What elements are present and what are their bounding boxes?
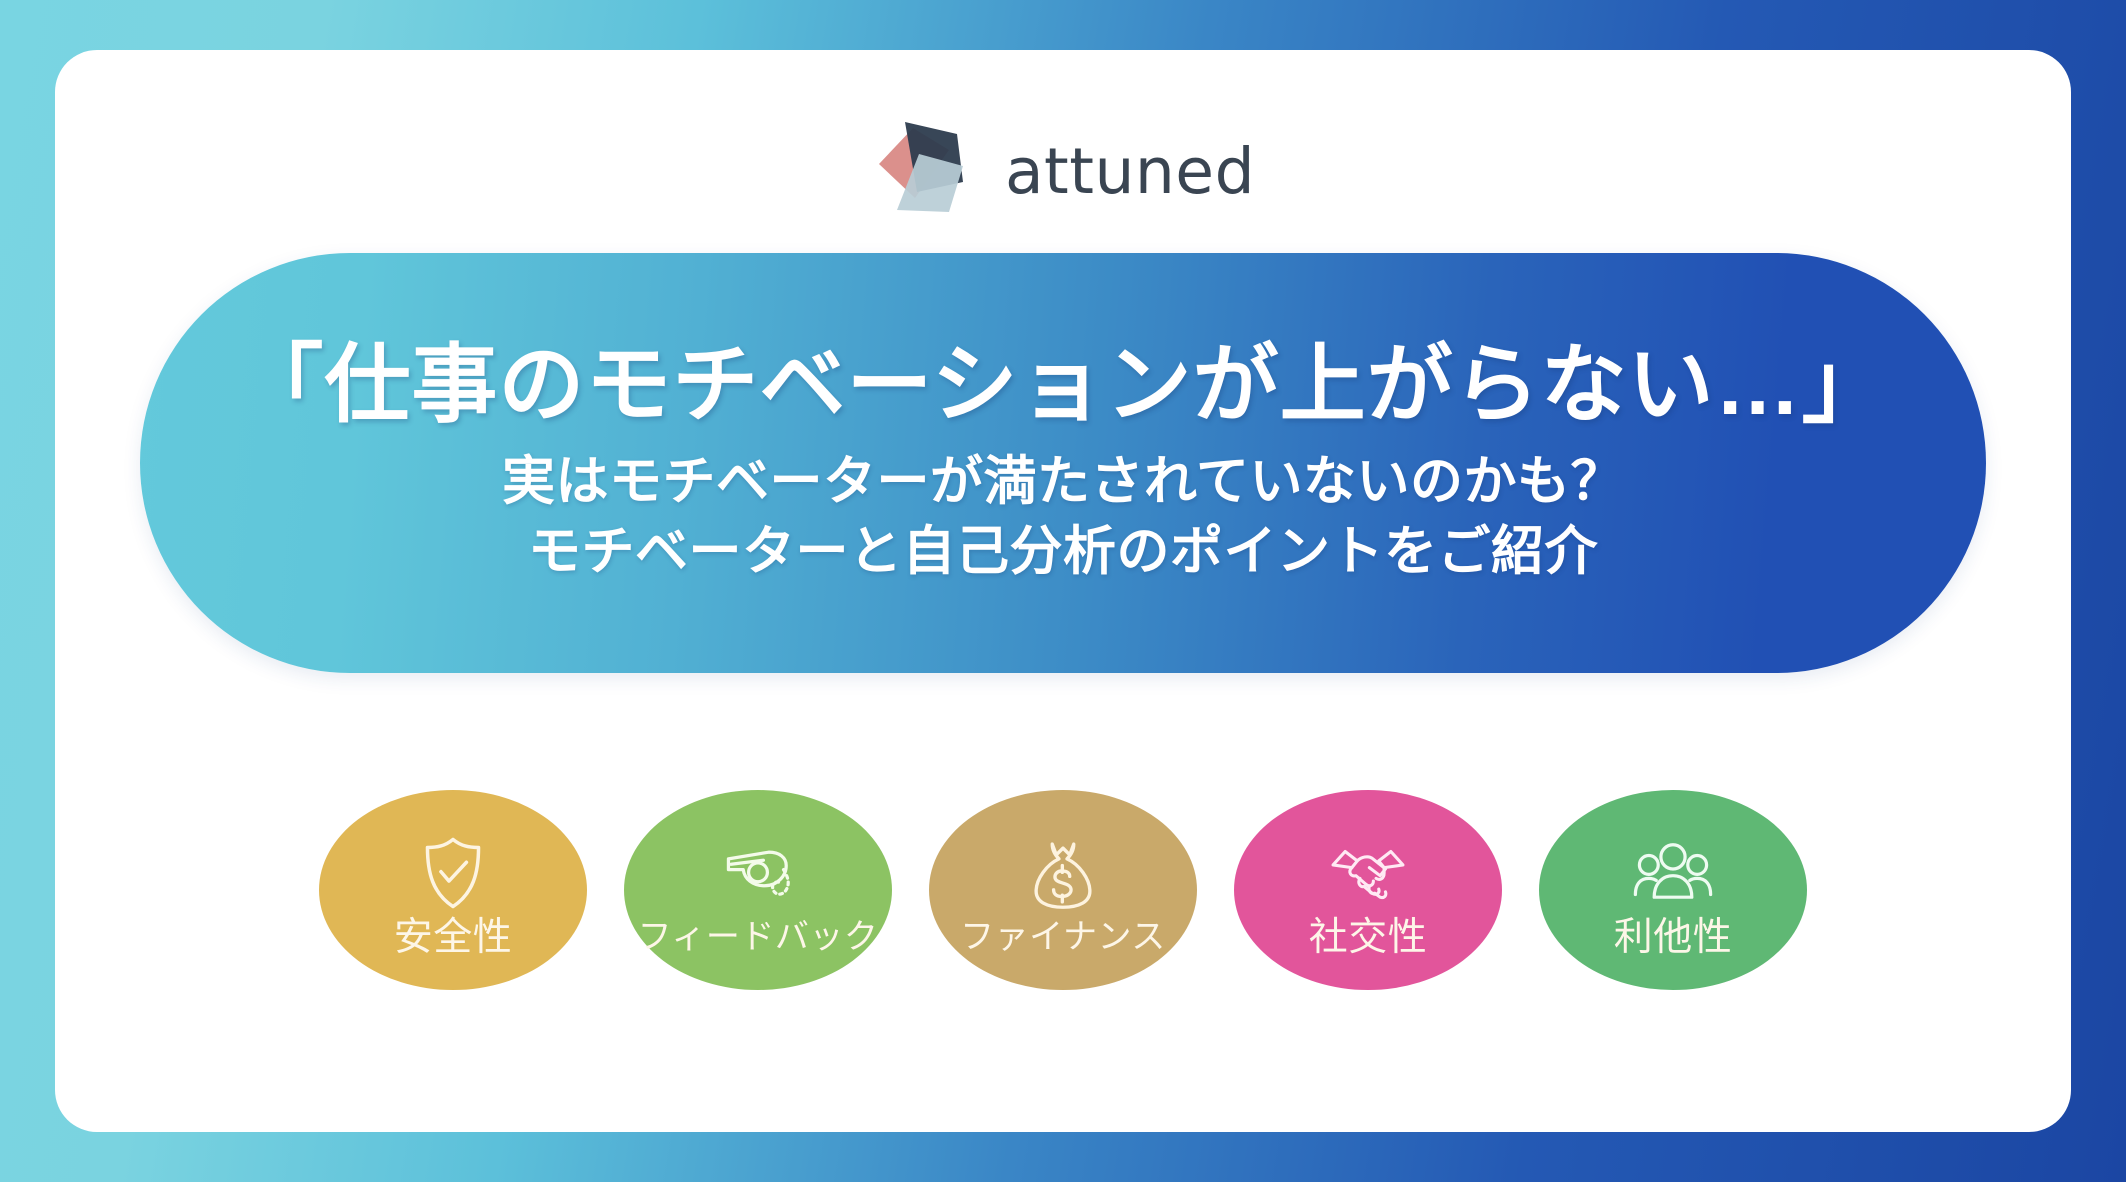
motivator-pill-list: 安全性 フィードバック (55, 790, 2071, 990)
brand-logo: attuned (55, 108, 2071, 226)
motivator-label: 利他性 (1614, 918, 1733, 957)
motivator-pill-social: 社交性 (1234, 790, 1502, 990)
attuned-diamond-logo-icon (871, 108, 989, 226)
handshake-icon (1320, 830, 1416, 916)
motivator-pill-altruism: 利他性 (1539, 790, 1807, 990)
headline-banner: 「仕事のモチベーションが上がらない…」 実はモチベーターが満たされていないのかも… (140, 253, 1986, 673)
whistle-icon (710, 832, 806, 918)
motivator-label: ファイナンス (960, 920, 1166, 954)
attuned-wordmark: attuned (1005, 140, 1255, 203)
promo-graphic-page: attuned 「仕事のモチベーションが上がらない…」 実はモチベーターが満たさ… (0, 0, 2126, 1182)
people-group-icon (1625, 830, 1721, 916)
motivator-label: 安全性 (394, 918, 513, 957)
motivator-pill-safety: 安全性 (319, 790, 587, 990)
motivator-label: フィードバック (638, 920, 879, 954)
motivator-label: 社交性 (1309, 918, 1428, 957)
shield-check-icon (405, 830, 501, 916)
banner-title: 「仕事のモチベーションが上がらない…」 (237, 339, 1888, 432)
banner-subtitle-line2: モチベーターと自己分析のポイントをご紹介 (528, 517, 1598, 587)
motivator-pill-feedback: フィードバック (624, 790, 892, 990)
banner-subtitle-line1: 実はモチベーターが満たされていないのかも？ (502, 447, 1624, 517)
content-card: attuned 「仕事のモチベーションが上がらない…」 実はモチベーターが満たさ… (55, 50, 2071, 1132)
motivator-pill-finance: ファイナンス (929, 790, 1197, 990)
money-bag-icon (1015, 832, 1111, 918)
